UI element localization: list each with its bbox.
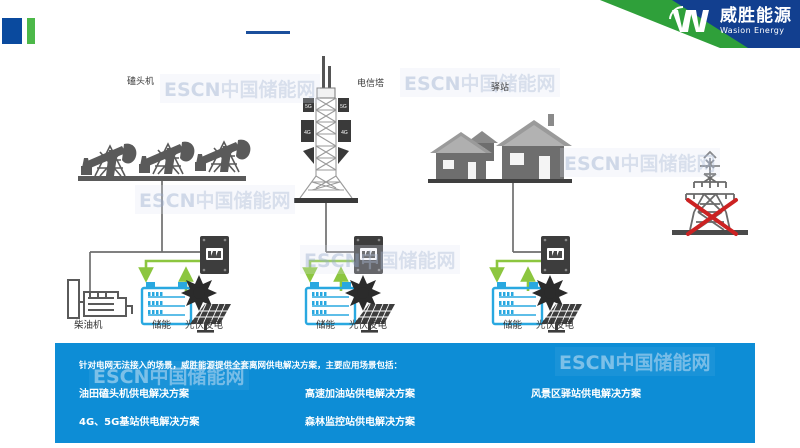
header-banner: 威胜能源 Wasion Energy — [560, 0, 800, 48]
label-storage-2: 储能 — [316, 317, 335, 331]
label-pumpjack: 磕头机 — [127, 74, 154, 87]
solution-item-gas-station[interactable]: 高速加油站供电解决方案 — [305, 385, 415, 400]
slide-canvas: 威胜能源 Wasion Energy — [0, 0, 800, 448]
grid-tower-unavailable — [672, 152, 748, 235]
solutions-panel: ESCN中国储能网 ESCN中国储能网 针对电网无法接入的场景，威胜能源提供全套… — [55, 343, 755, 443]
telecom-tower-group: 5G 5G 4G 4G — [294, 56, 358, 203]
diesel-generator-icon — [68, 280, 132, 318]
title-underline-rule — [246, 31, 290, 34]
brand-name-en: Wasion Energy — [720, 27, 792, 35]
accent-bar-blue — [2, 18, 22, 44]
unavailable-cross-icon — [688, 200, 736, 234]
company-logo: 威胜能源 Wasion Energy — [668, 6, 792, 36]
inverter-3 — [541, 236, 570, 274]
solution-item-scenic-post[interactable]: 风景区驿站供电解决方案 — [531, 385, 641, 400]
brand-name-cn: 威胜能源 — [720, 8, 792, 25]
offgrid-power-diagram: 5G 5G 4G 4G — [0, 48, 800, 393]
label-rest-station: 驿站 — [491, 80, 509, 93]
rest-station-houses — [428, 114, 572, 183]
solution-item-oilfield[interactable]: 油田磕头机供电解决方案 — [79, 385, 189, 400]
tower-tag-4g-right: 4G — [341, 130, 348, 136]
pumpjack-group — [78, 140, 250, 181]
inverter-2 — [354, 236, 383, 274]
watermark: ESCN中国储能网 — [555, 347, 715, 376]
label-pv-1: 光伏发电 — [185, 317, 223, 331]
label-pv-3: 光伏发电 — [536, 317, 574, 331]
tower-tag-5g-left: 5G — [305, 104, 312, 110]
tower-tag-5g-right: 5G — [340, 104, 347, 110]
label-pv-2: 光伏发电 — [349, 317, 387, 331]
label-storage-1: 储能 — [152, 317, 171, 331]
label-telecom-tower: 电信塔 — [357, 76, 384, 89]
wasion-w-icon — [668, 6, 714, 36]
panel-intro-text: 针对电网无法接入的场景，威胜能源提供全套离网供电解决方案，主要应用场景包括： — [79, 359, 402, 371]
label-diesel: 柴油机 — [74, 317, 103, 331]
accent-bar-green — [27, 18, 35, 44]
solution-item-forest-watch[interactable]: 森林监控站供电解决方案 — [305, 413, 415, 428]
tower-tag-4g-left: 4G — [304, 130, 311, 136]
inverter-group — [200, 236, 570, 274]
inverter-1 — [200, 236, 229, 274]
label-storage-3: 储能 — [503, 317, 522, 331]
solution-item-base-station[interactable]: 4G、5G基站供电解决方案 — [79, 413, 199, 428]
